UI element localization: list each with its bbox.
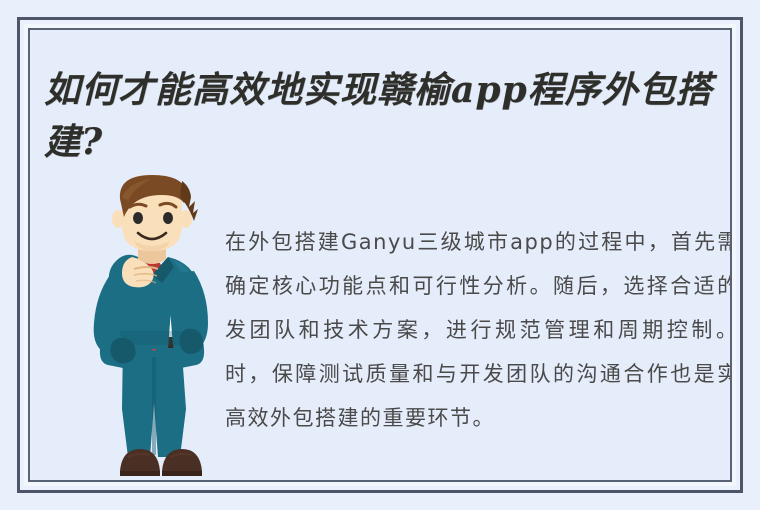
page-title: 如何才能高效地实现赣榆app程序外包搭建? <box>44 64 732 168</box>
frame-gap-ring: 如何才能高效地实现赣榆app程序外包搭建? <box>24 24 736 486</box>
thinking-businessman-illustration <box>76 171 228 482</box>
frame-inner-border: 如何才能高效地实现赣榆app程序外包搭建? <box>28 28 732 482</box>
businessman-figure-svg <box>76 171 228 482</box>
frame-outer-border: 如何才能高效地实现赣榆app程序外包搭建? <box>17 17 743 493</box>
article-body-text: 在外包搭建Ganyu三级城市app的过程中，首先需要确定核心功能点和可行性分析。… <box>225 220 732 440</box>
article-content: 在外包搭建Ganyu三级城市app的过程中，首先需要确定核心功能点和可行性分析。… <box>30 155 730 480</box>
article-page: 如何才能高效地实现赣榆app程序外包搭建? <box>0 0 760 510</box>
